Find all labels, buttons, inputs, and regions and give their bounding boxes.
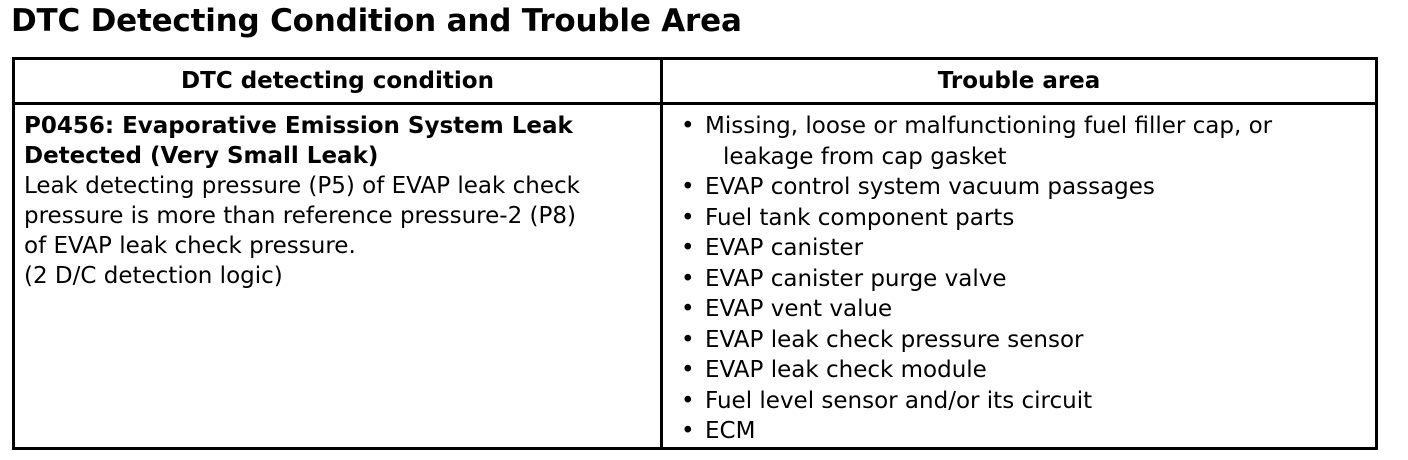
list-item: •EVAP canister [669,233,1372,264]
page-title: DTC Detecting Condition and Trouble Area [11,1,742,41]
list-item: •Fuel tank component parts [669,203,1372,234]
list-item-label: Missing, loose or malfunctioning fuel fi… [705,113,1272,139]
bullet-icon: • [681,294,693,325]
bullet-icon: • [681,111,693,142]
list-item: •EVAP control system vacuum passages [669,172,1372,203]
bullet-icon: • [681,233,693,264]
list-item: •ECM [669,416,1372,447]
cell-dtc-detecting-condition: P0456: Evaporative Emission System Leak … [15,105,660,447]
list-item: •EVAP leak check pressure sensor [669,325,1372,356]
bullet-icon: • [681,264,693,295]
bullet-icon: • [681,416,693,447]
list-item-label: EVAP canister [705,235,863,261]
trouble-area-list: •Missing, loose or malfunctioning fuel f… [669,111,1372,447]
dtc-description: Leak detecting pressure (P5) of EVAP lea… [24,171,644,291]
list-item-label-continuation: leakage from cap gasket [705,142,1372,173]
table-inner: DTC detecting condition Trouble area P04… [15,60,1375,447]
list-item-label: EVAP vent value [705,296,892,322]
table-body-row: P0456: Evaporative Emission System Leak … [15,105,1375,447]
list-item: •Missing, loose or malfunctioning fuel f… [669,111,1372,172]
bullet-icon: • [681,355,693,386]
column-header-trouble-area: Trouble area [663,60,1375,102]
dtc-description-line-4: (2 D/C detection logic) [24,261,644,291]
list-item-label: EVAP leak check pressure sensor [705,327,1084,353]
dtc-description-line-2: pressure is more than reference pressure… [24,201,644,231]
bullet-icon: • [681,203,693,234]
dtc-description-line-3: of EVAP leak check pressure. [24,231,644,261]
column-header-dtc-detecting-condition: DTC detecting condition [15,60,660,102]
dtc-description-line-1: Leak detecting pressure (P5) of EVAP lea… [24,171,644,201]
table-header-row: DTC detecting condition Trouble area [15,60,1375,105]
dtc-code-heading: P0456: Evaporative Emission System Leak … [24,111,629,171]
list-item: •EVAP vent value [669,294,1372,325]
list-item-label: Fuel tank component parts [705,205,1014,231]
dtc-table-page: DTC Detecting Condition and Trouble Area… [0,0,1408,460]
list-item-label: EVAP leak check module [705,357,987,383]
bullet-icon: • [681,325,693,356]
list-item-label: EVAP control system vacuum passages [705,174,1155,200]
dtc-table: DTC detecting condition Trouble area P04… [12,57,1378,450]
list-item-label: EVAP canister purge valve [705,266,1006,292]
list-item: •Fuel level sensor and/or its circuit [669,386,1372,417]
bullet-icon: • [681,386,693,417]
list-item-label: Fuel level sensor and/or its circuit [705,388,1092,414]
cell-trouble-area: •Missing, loose or malfunctioning fuel f… [663,105,1378,447]
list-item-label: ECM [705,418,755,444]
list-item: •EVAP canister purge valve [669,264,1372,295]
bullet-icon: • [681,172,693,203]
list-item: •EVAP leak check module [669,355,1372,386]
